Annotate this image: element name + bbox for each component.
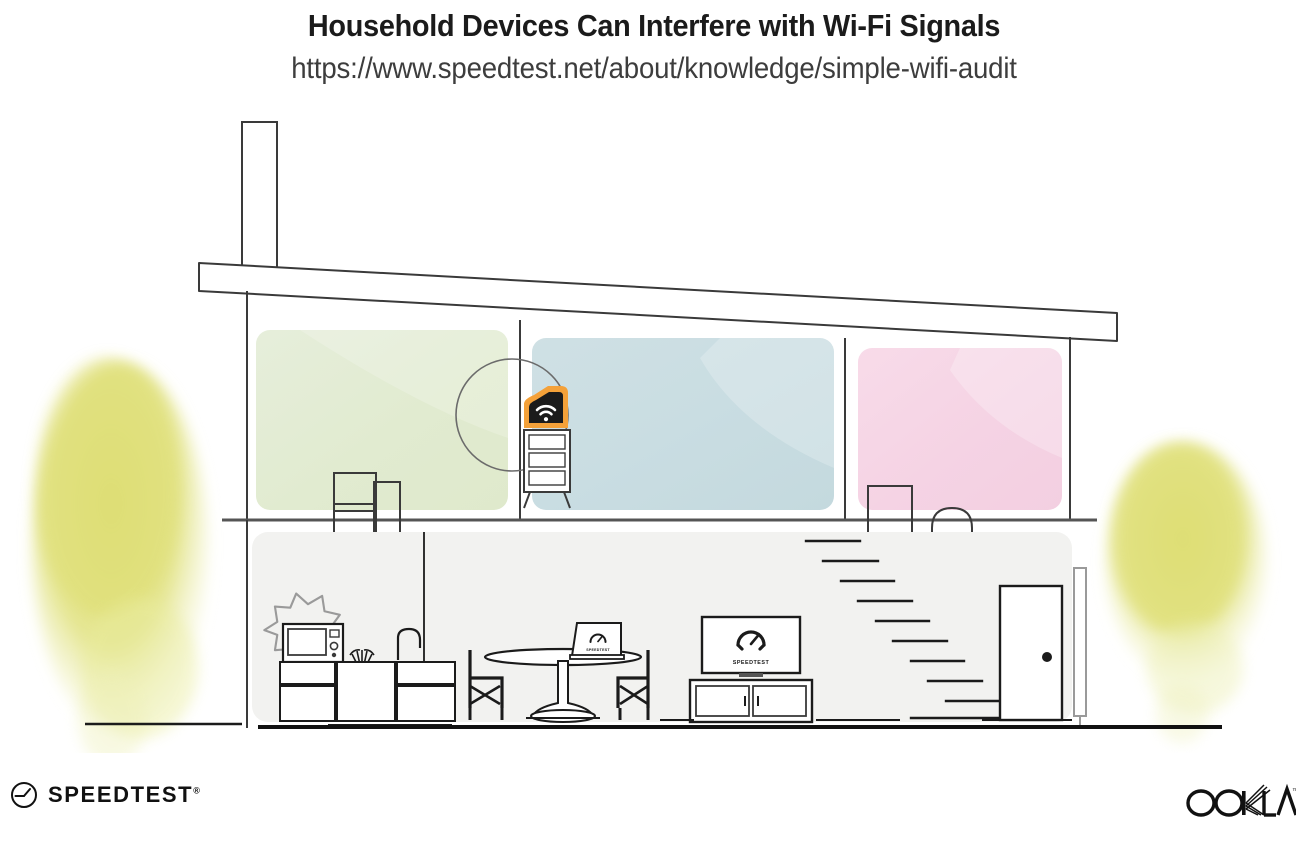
roof — [199, 263, 1117, 341]
door-knob-icon[interactable] — [1042, 652, 1052, 662]
microwave[interactable] — [283, 624, 343, 662]
speedtest-wordmark: SPEEDTEST® — [48, 782, 200, 808]
front-door[interactable] — [1000, 586, 1062, 720]
tv-screen-label: SPEEDTEST — [733, 660, 770, 666]
ookla-k-stripes — [1246, 785, 1270, 815]
page-title: Household Devices Can Interfere with Wi-… — [46, 0, 1262, 44]
laptop-screen-label: SPEEDTEST — [586, 648, 610, 652]
ground-lines — [85, 724, 1222, 727]
ground-floor: SPEEDTEST — [247, 520, 1086, 728]
speedtest-trademark: ® — [193, 786, 200, 796]
television[interactable]: SPEEDTEST — [702, 617, 800, 677]
source-url: https://www.speedtest.net/about/knowledg… — [52, 44, 1255, 86]
speedtest-logo: SPEEDTEST® — [10, 781, 200, 809]
laptop[interactable]: SPEEDTEST — [570, 623, 624, 659]
ookla-trademark: ™ — [1292, 788, 1296, 795]
tree-left — [32, 358, 208, 753]
tree-right — [1106, 443, 1266, 743]
chimney — [242, 122, 277, 274]
speedtest-gauge-icon-logo — [10, 781, 38, 809]
speedtest-wordmark-text: SPEEDTEST — [48, 782, 193, 807]
media-console — [690, 680, 812, 722]
house-illustration: SPEEDTEST — [0, 108, 1308, 753]
side-window — [1074, 568, 1086, 716]
ookla-logo: ™ — [1184, 781, 1296, 826]
header: Household Devices Can Interfere with Wi-… — [0, 0, 1308, 86]
footer: SPEEDTEST® ™ — [0, 761, 1308, 861]
infographic-page: Household Devices Can Interfere with Wi-… — [0, 0, 1308, 861]
wifi-router[interactable] — [524, 386, 568, 428]
